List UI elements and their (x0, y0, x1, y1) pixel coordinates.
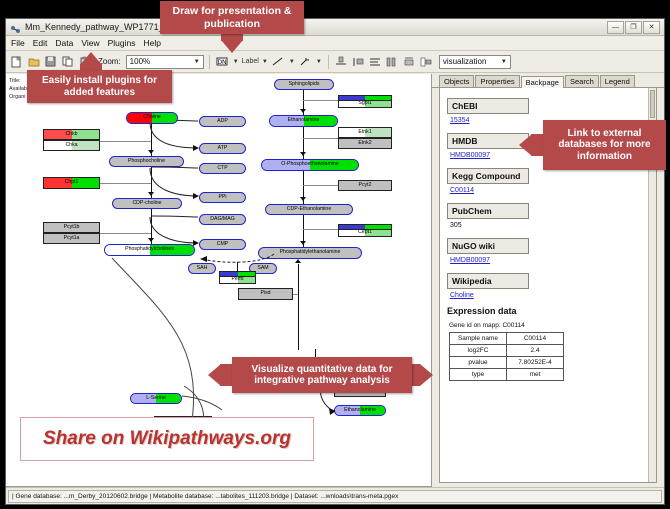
node-label: Etnk2 (358, 141, 371, 146)
panel-left-gutter (432, 88, 438, 483)
node-label: CDP-Ethanolamine (287, 207, 331, 212)
menu-help[interactable]: Help (144, 38, 161, 48)
meta-organism-label: Organi (9, 93, 27, 101)
backpage-link-nugo[interactable]: HMDB00097 (450, 257, 649, 264)
close-button[interactable]: ✕ (643, 21, 660, 34)
new-file-icon[interactable] (9, 54, 24, 69)
tab-objects[interactable]: Objects (439, 75, 474, 87)
node-label: SAM (257, 266, 268, 271)
datanode-dropdown-icon[interactable]: ▼ (232, 59, 240, 65)
callout-draw-arrow (221, 40, 243, 53)
arc-dagmag-cmp (146, 215, 206, 247)
node-pcyt2[interactable]: Pcyt2 (338, 180, 392, 191)
cell-value: C00114 (507, 333, 564, 345)
share-text: Share on Wikipathways.org (43, 428, 291, 450)
node-label: Phosphatidylethanolamine (280, 250, 341, 255)
screenshot-root: Mm_Kennedy_pathway_WP1771_45176.gpml — ❐… (0, 0, 670, 509)
maximize-button[interactable]: ❐ (625, 21, 642, 34)
order-tool-icon[interactable] (419, 54, 434, 69)
node-label: Ethanolamine (344, 408, 376, 413)
callout-plugins-arrow (80, 52, 102, 65)
node-ppi[interactable]: PPi (199, 192, 246, 203)
node-ethanolamine-top[interactable]: Ethanolamine (269, 115, 338, 127)
callout-draw: Draw for presentation & publication (160, 1, 304, 34)
status-text: | Gene database: ...m_Derby_20120602.bri… (12, 493, 398, 500)
menu-plugins[interactable]: Plugins (108, 38, 136, 48)
node-label: PPi (218, 195, 226, 200)
cell-value: 7.80252E-4 (507, 357, 564, 369)
node-cmp[interactable]: CMP (199, 239, 246, 250)
label-tool-button[interactable]: Label (242, 58, 259, 65)
backpage-heading-nugo: NuGO wiki (447, 238, 529, 254)
pathway-meta: Title: Availab Organi (9, 77, 27, 101)
tab-backpage[interactable]: Backpage (521, 76, 564, 88)
backpage-value-pubchem: 305 (450, 222, 649, 229)
line-tool-icon[interactable] (271, 54, 286, 69)
callout-visualize-arrow (208, 364, 221, 386)
arc-serine-to-choline (180, 392, 224, 412)
callout-links: Link to external databases for more info… (543, 120, 666, 170)
minimize-button[interactable]: — (607, 21, 624, 34)
node-label: L-Serine (146, 396, 166, 401)
node-etnk1[interactable]: Etnk1 (338, 127, 392, 138)
node-label: DAG/MAG (210, 217, 235, 222)
status-bar-inner: | Gene database: ...m_Derby_20120602.bri… (8, 490, 662, 503)
node-chkb[interactable]: Chkb (43, 129, 100, 140)
callout-visualize: Visualize quantitative data for integrat… (232, 357, 412, 393)
cell-key: type (450, 369, 507, 381)
stack-tool-icon[interactable] (351, 54, 366, 69)
table-row: log2FC 2.4 (450, 345, 564, 357)
node-label: CDP-choline (132, 201, 161, 206)
line-dropdown-icon[interactable]: ▼ (288, 59, 296, 65)
zoom-value: 100% (130, 57, 150, 66)
menu-data[interactable]: Data (55, 38, 73, 48)
node-phosphatidylcholines[interactable]: Phosphatidylcholines (104, 244, 195, 256)
interaction-tool-icon[interactable] (298, 54, 313, 69)
node-label: Phosphatidylcholines (125, 247, 174, 252)
node-chpt1[interactable]: Chpt1 (43, 177, 100, 189)
arc-adp-atp (146, 118, 206, 154)
visualization-combo[interactable]: visualization ▼ (439, 55, 511, 69)
callout-links-arrow (519, 134, 532, 156)
meta-title-label: Title: (9, 77, 27, 85)
table-row: pvalue 7.80252E-4 (450, 357, 564, 369)
node-label: Pcyt2 (359, 183, 372, 188)
node-pemt-mid[interactable]: Pemt (219, 277, 256, 284)
node-label: Sphingolipids (289, 82, 320, 87)
node-label: Etnk1 (358, 130, 371, 135)
tab-search[interactable]: Search (565, 75, 599, 87)
save-icon[interactable] (43, 54, 58, 69)
node-label: Phosphocholine (128, 159, 165, 164)
toolbar-separator-2 (328, 55, 329, 69)
label-dropdown-icon[interactable]: ▼ (261, 59, 269, 65)
menu-bar: File Edit Data View Plugins Help (6, 36, 664, 51)
node-label: Cept1 (358, 230, 372, 235)
cell-key: Sample name (450, 333, 507, 345)
datanode-tool-icon[interactable]: DN (215, 54, 230, 69)
side-panel-tabs: Objects Properties Backpage Search Legen… (432, 74, 664, 88)
size-tool-icon[interactable] (385, 54, 400, 69)
cell-value: met (507, 369, 564, 381)
interaction-dropdown-icon[interactable]: ▼ (315, 59, 323, 65)
node-label: Pcyt1a (64, 236, 80, 241)
cell-value: 2.4 (507, 345, 564, 357)
pathvisio-icon (10, 22, 21, 33)
open-folder-icon[interactable] (26, 54, 41, 69)
backpage-heading-pubchem: PubChem (447, 203, 529, 219)
node-label: Choline (143, 115, 161, 120)
node-label: CMP (217, 242, 229, 247)
chevron-down-icon: ▼ (191, 56, 203, 68)
gene-id-line: Gene id on mapp: C00114 (449, 322, 649, 329)
table-row: Sample name C00114 (450, 333, 564, 345)
node-pcyt1a[interactable]: Pcyt1a (43, 233, 100, 244)
window-title: Mm_Kennedy_pathway_WP1771_45176.gpml (25, 22, 607, 32)
node-label: Chkb (65, 132, 77, 137)
node-ctp[interactable]: CTP (199, 163, 246, 174)
backpage-link-kegg[interactable]: C00114 (450, 187, 649, 194)
expression-data-title: Expression data (447, 306, 649, 316)
backpage-heading-hmdb: HMDB (447, 133, 529, 149)
backpage-heading-kegg: Kegg Compound (447, 168, 529, 184)
node-label: CTP (217, 166, 227, 171)
zoom-combo[interactable]: 100% ▼ (126, 55, 204, 69)
node-label: Chpt1 (65, 180, 79, 185)
node-label: Sgpl1 (358, 101, 371, 106)
window-buttons: — ❐ ✕ (607, 21, 660, 34)
node-label: Pcyt1b (64, 225, 80, 230)
node-dagmag[interactable]: DAG/MAG (199, 214, 246, 225)
node-label: Ethanolamine (288, 118, 320, 123)
callout-plugins: Easily install plugins for added feature… (27, 70, 172, 103)
arc-ctp-ppi (146, 166, 206, 200)
backpage-heading-chebi: ChEBI (447, 98, 529, 114)
status-bar: | Gene database: ...m_Derby_20120602.bri… (6, 487, 664, 504)
node-adp[interactable]: ADP (199, 116, 246, 127)
callout-share: Share on Wikipathways.org (20, 417, 314, 461)
svg-text:DN: DN (218, 59, 227, 66)
visualization-value: visualization (443, 57, 487, 66)
node-label: Pisd (260, 291, 270, 296)
cell-key: log2FC (450, 345, 507, 357)
expression-table: Sample name C00114 log2FC 2.4 pvalue 7.8… (449, 332, 564, 381)
node-atp[interactable]: ATP (199, 143, 246, 154)
title-bar: Mm_Kennedy_pathway_WP1771_45176.gpml — ❐… (6, 19, 664, 36)
node-label: Pemt (231, 277, 243, 282)
node-ethanolamine-bottom[interactable]: Ethanolamine (334, 405, 386, 416)
node-cept1[interactable]: Cept1 (338, 230, 392, 237)
node-sphingolipids[interactable]: Sphingolipids (274, 79, 334, 90)
node-label: Chka (65, 143, 77, 148)
toolbar-separator (209, 55, 210, 69)
tab-legend[interactable]: Legend (600, 75, 635, 87)
node-o-phosphoethanolamine[interactable]: O-Phosphoethanolamine (261, 159, 359, 171)
menu-edit[interactable]: Edit (33, 38, 48, 48)
distribute-tool-icon[interactable] (368, 54, 383, 69)
backpage-heading-wikipedia: Wikipedia (447, 273, 529, 289)
node-pcyt1b[interactable]: Pcyt1b (43, 222, 100, 233)
table-row: type met (450, 369, 564, 381)
menu-file[interactable]: File (11, 38, 25, 48)
copy-icon[interactable] (60, 54, 75, 69)
menu-view[interactable]: View (81, 38, 99, 48)
node-sgpl1[interactable]: Sgpl1 (338, 101, 392, 108)
group-tool-icon[interactable] (402, 54, 417, 69)
chevron-down-icon-vis: ▼ (498, 56, 510, 68)
node-pisd[interactable]: Pisd (238, 288, 293, 300)
backpage-link-wikipedia[interactable]: Choline (450, 292, 649, 299)
callout-visualize-arrow-right (420, 364, 433, 386)
align-tool-icon[interactable] (334, 54, 349, 69)
tab-properties[interactable]: Properties (475, 75, 519, 87)
meta-availability-label: Availab (9, 85, 27, 93)
node-etnk2[interactable]: Etnk2 (338, 138, 392, 149)
node-label: ATP (218, 146, 228, 151)
node-choline-top[interactable]: Choline (126, 112, 178, 124)
cell-key: pvalue (450, 357, 507, 369)
node-l-serine-left[interactable]: L-Serine (130, 393, 182, 404)
node-label: ADP (217, 119, 228, 124)
node-chka[interactable]: Chka (43, 140, 100, 151)
scrollbar-thumb[interactable] (650, 90, 655, 118)
node-cdp-ethanolamine[interactable]: CDP-Ethanolamine (265, 204, 353, 215)
node-label: SAH (197, 266, 208, 271)
node-label: O-Phosphoethanolamine (281, 162, 338, 167)
